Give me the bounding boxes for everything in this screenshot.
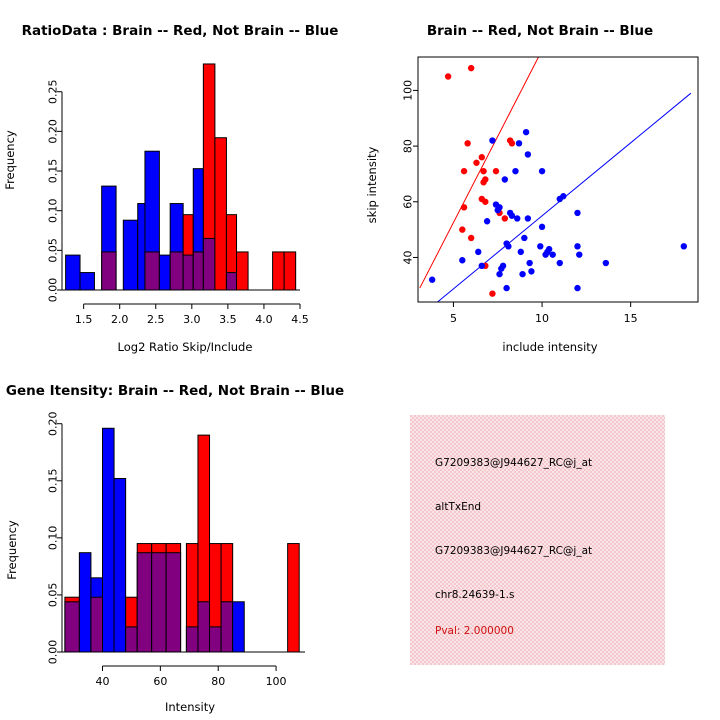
x-axis-tick-label: 2.5 xyxy=(147,313,165,326)
x-axis-tick-label: 15 xyxy=(624,312,638,325)
scatter-point xyxy=(479,263,485,269)
histogram-bar-overlap xyxy=(183,255,193,290)
x-axis-tick-label: 4.5 xyxy=(291,313,309,326)
scatter-point xyxy=(574,243,580,249)
x-axis-tick-label: 80 xyxy=(211,675,225,688)
histogram-bar xyxy=(159,255,170,290)
x-axis-tick-label: 2.0 xyxy=(111,313,129,326)
y-axis-tick-label: 0.05 xyxy=(47,238,60,263)
histogram-bar-overlap xyxy=(170,252,183,290)
y-axis-tick-label: 100 xyxy=(402,80,415,101)
y-axis-tick-label: 0.25 xyxy=(47,79,60,104)
scatter-point xyxy=(518,249,524,255)
histogram-bar-overlap xyxy=(145,252,159,290)
scatter-point xyxy=(459,226,465,232)
ratio-histogram-svg: RatioData : Brain -- Red, Not Brain -- B… xyxy=(0,0,360,360)
x-axis-tick-label: 1.5 xyxy=(75,313,93,326)
scatter-point xyxy=(464,140,470,146)
x-axis-tick-label: 3.5 xyxy=(219,313,237,326)
info-line-event-type: altTxEnd xyxy=(435,501,481,513)
scatter-point xyxy=(479,154,485,160)
scatter-point xyxy=(560,193,566,199)
scatter-svg: Brain -- Red, Not Brain -- Blue skip int… xyxy=(360,0,720,360)
x-axis-tick-label: 4.0 xyxy=(255,313,273,326)
scatter-point xyxy=(496,204,502,210)
ratio-histogram-bars xyxy=(66,64,296,290)
y-axis-tick-label: 0.00 xyxy=(47,278,60,303)
scatter-xlabel: include intensity xyxy=(502,340,597,354)
histogram-bar-overlap xyxy=(193,252,203,290)
scatter-point xyxy=(503,285,509,291)
ratio-histogram-xlabel: Log2 Ratio Skip/Include xyxy=(118,340,253,354)
info-line-probeset-id-2: G7209383@J944627_RC@j_at xyxy=(435,545,592,557)
histogram-bar-overlap xyxy=(65,602,79,652)
histogram-bar-overlap xyxy=(203,238,215,290)
gene-histogram-bars xyxy=(65,428,299,652)
y-axis-tick-label: 0.00 xyxy=(47,640,60,665)
histogram-bar-overlap xyxy=(152,553,166,652)
scatter-axes: 40608010051015 xyxy=(402,57,698,325)
histogram-bar-overlap xyxy=(210,627,222,652)
histogram-bar xyxy=(273,252,285,290)
scatter-point xyxy=(539,224,545,230)
y-axis-tick-label: 0.20 xyxy=(47,119,60,144)
scatter-point xyxy=(489,290,495,296)
histogram-bar xyxy=(114,478,126,652)
scatter-points xyxy=(429,65,687,297)
histogram-bar xyxy=(215,138,227,290)
gene-histogram-svg: Gene Itensity: Brain -- Red, Not Brain -… xyxy=(0,360,360,720)
y-axis-tick-label: 0.10 xyxy=(47,526,60,551)
x-axis-tick-label: 100 xyxy=(266,675,287,688)
ratio-histogram-title: RatioData : Brain -- Red, Not Brain -- B… xyxy=(22,23,339,39)
histogram-bar-overlap xyxy=(91,597,103,652)
info-line-pval: Pval: 2.000000 xyxy=(435,625,514,637)
panel-gene-histogram: Gene Itensity: Brain -- Red, Not Brain -… xyxy=(0,360,360,720)
histogram-bar xyxy=(103,428,115,652)
info-background-box: G7209383@J944627_RC@j_at altTxEnd G72093… xyxy=(410,415,665,665)
scatter-point xyxy=(525,151,531,157)
info-line-coordinate: chr8.24639-1.s xyxy=(435,589,514,601)
histogram-bar xyxy=(237,252,249,290)
histogram-bar-overlap xyxy=(226,273,236,290)
scatter-ylabel: skip intensity xyxy=(365,146,379,223)
y-axis-tick-label: 40 xyxy=(402,250,415,264)
scatter-point xyxy=(549,251,555,257)
y-axis-tick-label: 0.10 xyxy=(47,198,60,223)
gene-histogram-ylabel: Frequency xyxy=(5,520,19,580)
scatter-point xyxy=(681,243,687,249)
scatter-point xyxy=(512,168,518,174)
histogram-bar xyxy=(233,602,245,652)
histogram-bar-overlap xyxy=(102,252,116,290)
scatter-point xyxy=(505,243,511,249)
scatter-point xyxy=(502,176,508,182)
scatter-point xyxy=(475,249,481,255)
histogram-bar xyxy=(123,220,137,290)
histogram-bar xyxy=(66,255,80,290)
gene-histogram-title: Gene Itensity: Brain -- Red, Not Brain -… xyxy=(6,383,344,399)
histogram-bar-overlap xyxy=(221,602,233,652)
y-axis-tick-label: 80 xyxy=(402,139,415,153)
y-axis-tick-label: 0.15 xyxy=(47,469,60,494)
scatter-point xyxy=(514,215,520,221)
x-axis-tick-label: 10 xyxy=(535,312,549,325)
histogram-bar xyxy=(284,252,296,290)
scatter-point xyxy=(482,199,488,205)
scatter-point xyxy=(468,235,474,241)
scatter-point xyxy=(574,285,580,291)
y-axis-tick-label: 0.05 xyxy=(47,583,60,608)
scatter-title: Brain -- Red, Not Brain -- Blue xyxy=(427,23,653,39)
scatter-point xyxy=(574,210,580,216)
scatter-point xyxy=(489,137,495,143)
scatter-point xyxy=(461,168,467,174)
scatter-point xyxy=(519,271,525,277)
x-axis-tick-label: 3.0 xyxy=(183,313,201,326)
scatter-point xyxy=(480,179,486,185)
scatter-point xyxy=(459,257,465,263)
histogram-bar-overlap xyxy=(166,553,180,652)
scatter-point xyxy=(523,129,529,135)
x-axis-tick-label: 5 xyxy=(450,312,457,325)
gene-histogram-xlabel: Intensity xyxy=(165,700,215,714)
plot-page: RatioData : Brain -- Red, Not Brain -- B… xyxy=(0,0,720,720)
scatter-point xyxy=(500,263,506,269)
histogram-bar xyxy=(79,553,91,652)
scatter-point xyxy=(502,215,508,221)
y-axis-tick-label: 0.15 xyxy=(47,159,60,184)
histogram-bar xyxy=(80,273,94,290)
scatter-point xyxy=(509,140,515,146)
scatter-point xyxy=(496,271,502,277)
histogram-bar-overlap xyxy=(186,627,198,652)
scatter-point xyxy=(480,168,486,174)
scatter-point xyxy=(461,204,467,210)
scatter-point xyxy=(528,268,534,274)
panel-ratio-histogram: RatioData : Brain -- Red, Not Brain -- B… xyxy=(0,0,360,360)
x-axis-tick-label: 40 xyxy=(96,675,110,688)
scatter-point xyxy=(557,260,563,266)
scatter-point xyxy=(525,215,531,221)
scatter-point xyxy=(539,168,545,174)
x-axis-tick-label: 60 xyxy=(153,675,167,688)
info-line-probeset-id: G7209383@J944627_RC@j_at xyxy=(435,457,592,469)
scatter-point xyxy=(484,218,490,224)
scatter-point xyxy=(546,246,552,252)
scatter-fit-lines xyxy=(420,57,691,302)
histogram-bar-overlap xyxy=(126,627,138,652)
scatter-point xyxy=(429,277,435,283)
scatter-point xyxy=(537,243,543,249)
scatter-point xyxy=(521,235,527,241)
histogram-bar-overlap xyxy=(198,602,210,652)
panel-info: G7209383@J944627_RC@j_at altTxEnd G72093… xyxy=(360,360,720,720)
scatter-point xyxy=(603,260,609,266)
ratio-histogram-ylabel: Frequency xyxy=(3,130,17,190)
scatter-point xyxy=(576,251,582,257)
y-axis-tick-label: 60 xyxy=(402,195,415,209)
scatter-point xyxy=(516,140,522,146)
y-axis-tick-label: 0.20 xyxy=(47,411,60,436)
scatter-point xyxy=(468,65,474,71)
histogram-bar-overlap xyxy=(137,553,151,652)
scatter-point xyxy=(526,260,532,266)
histogram-bar xyxy=(288,544,300,652)
scatter-point xyxy=(493,168,499,174)
panel-scatter: Brain -- Red, Not Brain -- Blue skip int… xyxy=(360,0,720,360)
scatter-point xyxy=(473,160,479,166)
scatter-point xyxy=(445,73,451,79)
